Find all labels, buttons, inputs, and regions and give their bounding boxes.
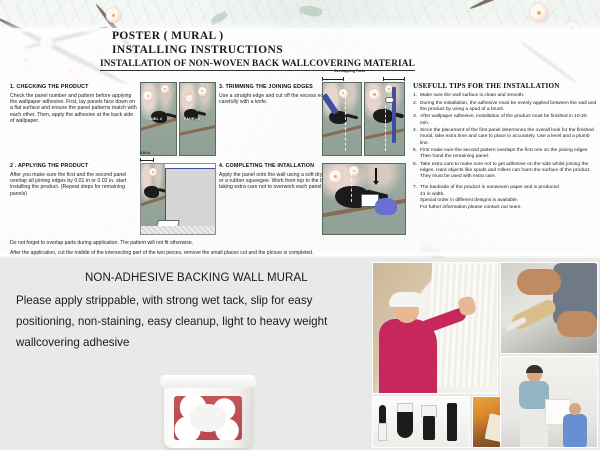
adhesive-bucket-image [164,382,252,448]
step-3-trimming-the-joining-edges: 3. TRIMMING THE JOINING EDGES Use a stra… [219,84,339,105]
product-description: Please apply strippable, with strong wet… [16,290,366,353]
tip-item: 1.Make sure the wall surface is clean an… [413,93,597,99]
step-2-body: After you make sure the first and the se… [10,172,138,198]
tip-number: 5. [413,148,420,160]
tip-number: 4. [413,128,420,147]
tip-item: 7.The backside of the product is nonwove… [413,185,597,191]
tip-number: 6. [413,162,420,181]
tip-number: 3. [413,114,420,126]
photo-completing-installation [322,163,406,235]
tip-item: 3.After wallpaper adhesive, installation… [413,114,597,126]
footer-note-1: Do not forget to overlap parts during ap… [10,238,590,248]
overlapping-parts-label: Overlapping Parts [334,69,365,73]
panel-3-label: PANEL 3 [184,117,200,121]
panel-2-label: PANEL 2 [146,117,162,121]
tip-item: 6.Take extra care to make sure not to ge… [413,162,597,181]
step-4-title: 4. COMPLETING THE INTALLATION [219,163,339,169]
tips-title: USEFULL TIPS FOR THE INSTALLATION [413,82,597,90]
tip-text: During the installation, the adhesive mu… [420,101,597,113]
tip-text: The backside of the product is nonwoven … [420,185,597,191]
useful-tips-column: USEFULL TIPS FOR THE INSTALLATION 1.Make… [413,82,597,211]
tip-item: 2.During the installation, the adhesive … [413,101,597,113]
wallpaper-tools-photo [372,396,470,448]
tip-number: 7. [413,185,420,191]
tip-item: 5.First make sure the second pattern ove… [413,148,597,160]
footer-note-2: After the application, cut the middle of… [10,248,590,258]
photo-collage [372,262,598,448]
dimension-bar-left [322,76,344,80]
step-1-body: Check the panel number and pattern befor… [10,93,138,125]
tip-item: 4.Since the placement of the first panel… [413,128,597,147]
page-title: POSTER ( MURAL ) INSTALLING INSTRUCTIONS [112,30,283,57]
tip-text: First make sure the second pattern overl… [420,148,597,160]
man-and-boy-hanging-wallpaper-photo [500,356,598,448]
step-3-title: 3. TRIMMING THE JOINING EDGES [219,84,339,90]
instruction-sheet-page: POSTER ( MURAL ) INSTALLING INSTRUCTIONS… [0,0,600,450]
dimension-bar-small [140,157,154,161]
step-4-completing-the-installation: 4. COMPLETING THE INTALLATION Apply the … [219,163,339,191]
hands-with-roller-photo [500,262,598,354]
photo-panel-2: PANEL 2 [140,82,177,156]
photo-trimming-left [322,82,362,156]
title-line-1: POSTER ( MURAL ) [112,30,283,44]
woman-hanging-wallpaper-photo [372,262,498,394]
footer-notes: Do not forget to overlap parts during ap… [10,238,590,258]
step-3-body: Use a straight edge and cut off the exce… [219,93,339,106]
tip-text: Take extra care to make sure not to get … [420,162,597,181]
tip-text: After wallpaper adhesive, installation o… [420,114,597,126]
tip-tail-line: For futher information please contact ou… [413,205,597,211]
title-line-2: INSTALLING INSTRUCTIONS [112,44,283,58]
step-4-body: Apply the panel onto the wall using a so… [219,172,339,191]
step-2-title: 2 . APPLYING THE PRODUCT [10,163,138,169]
step-1-title: 1. CHECKING THE PRODUCT [10,84,138,90]
step-1-checking-the-product: 1. CHECKING THE PRODUCT Check the panel … [10,84,138,125]
dimension-bar-right [383,76,405,80]
tip-number: 2. [413,101,420,113]
photo-panel-3: PANEL 3 [179,82,216,156]
photo-trimming-right [364,82,405,156]
tip-number: 1. [413,93,420,99]
tip-text: Since the placement of the first panel d… [420,128,597,147]
small-dimension-label: 0.04 in [140,151,150,155]
page-subtitle: INSTALLATION OF NON-WOVEN BACK WALLCOVER… [100,59,415,71]
product-title: NON-ADHESIVE BACKING WALL MURAL [85,272,308,284]
step-2-applying-the-product: 2 . APPLYING THE PRODUCT After you make … [10,163,138,197]
tip-text: Make sure the wall surface is clean and … [420,93,597,99]
photo-applying-panel [140,163,216,235]
